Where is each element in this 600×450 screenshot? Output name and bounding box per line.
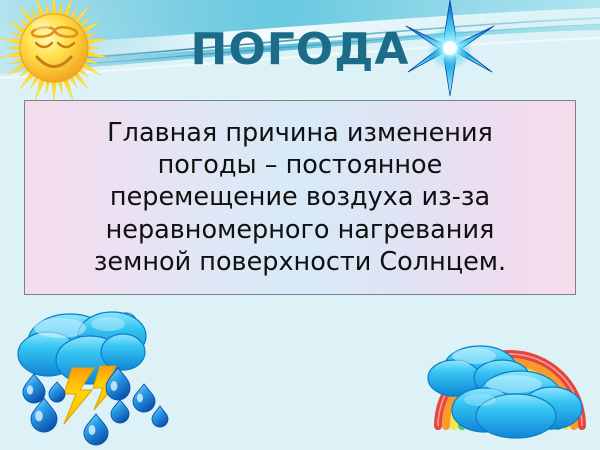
slide-canvas: ПОГОДА Главная причина изменения погоды … bbox=[0, 0, 600, 450]
rainbow-clouds-icon bbox=[424, 302, 596, 450]
content-text-box: Главная причина изменения погоды – посто… bbox=[24, 100, 576, 295]
page-title: ПОГОДА bbox=[0, 24, 600, 75]
content-text: Главная причина изменения погоды – посто… bbox=[25, 117, 575, 278]
storm-cloud-rain-lightning-icon bbox=[8, 302, 198, 450]
